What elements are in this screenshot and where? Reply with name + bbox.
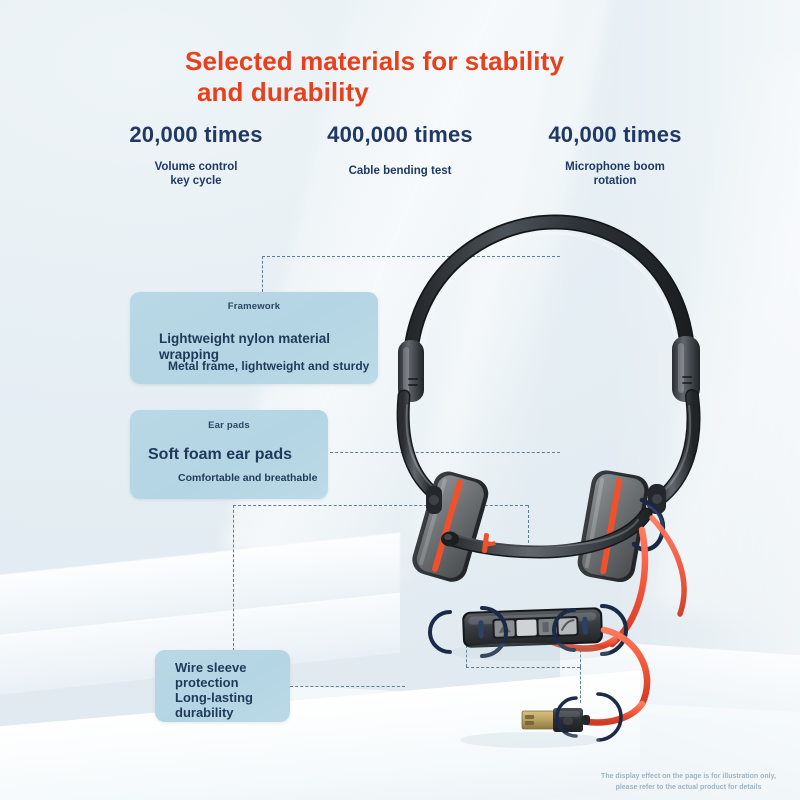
callout-heading: Ear pads — [130, 410, 328, 431]
stat-value: 400,000 times — [295, 122, 505, 148]
disclaimer-line-1: The display effect on the page is for il… — [586, 772, 791, 783]
disclaimer-line-2: please refer to the actual product for d… — [586, 783, 791, 794]
left-slider-arm — [398, 340, 432, 492]
stat-value: 20,000 times — [96, 122, 296, 148]
stat-label: Microphone boom rotation — [510, 161, 720, 188]
leader-line-wire-vertical — [233, 505, 234, 651]
stat-label-line-2: rotation — [510, 175, 720, 189]
page-title: Selected materials for stability and dur… — [185, 46, 655, 109]
leader-line-framework-vertical — [262, 256, 263, 292]
stat-mic-boom-rotation: 40,000 times Microphone boom rotation — [510, 122, 720, 188]
headband-outer — [410, 222, 688, 365]
stat-label: Cable bending test — [295, 165, 505, 179]
stat-cable-bending: 400,000 times Cable bending test — [295, 122, 505, 179]
inline-control-module — [462, 607, 603, 648]
callout-line-2: Comfortable and breathable — [178, 472, 317, 484]
disclaimer-text: The display effect on the page is for il… — [586, 772, 791, 793]
stat-volume-control: 20,000 times Volume control key cycle — [96, 122, 296, 188]
callout-framework[interactable]: Framework Lightweight nylon material wra… — [130, 292, 378, 384]
stat-label: Volume control key cycle — [96, 161, 296, 188]
stat-label-line-2: key cycle — [96, 175, 296, 189]
stat-value: 40,000 times — [510, 122, 720, 148]
callout-line-2: Metal frame, lightweight and sturdy — [168, 360, 369, 374]
cable-to-usb — [588, 704, 642, 722]
usb-strain-relief — [582, 715, 590, 725]
callout-ear-pads[interactable]: Ear pads Soft foam ear pads Comfortable … — [130, 410, 328, 499]
callout-line-2: Long-lasting durability — [175, 690, 290, 720]
callout-wire-sleeve[interactable]: Wire sleeve protection Long-lasting dura… — [155, 650, 290, 722]
title-line-2: and durability — [185, 77, 655, 108]
callout-heading: Framework — [130, 292, 378, 312]
product-photo-headset — [380, 200, 800, 800]
title-line-1: Selected materials for stability — [185, 46, 564, 76]
stat-label-line-1: Microphone boom — [510, 161, 720, 175]
mic-boom-accent-ring — [490, 542, 491, 546]
stat-label-line-1: Cable bending test — [295, 165, 505, 179]
callout-line-1: Lightweight nylon material wrapping — [159, 331, 378, 362]
left-cup-hinge — [426, 486, 442, 514]
pedestal-shape-1 — [0, 533, 400, 658]
stat-label-line-1: Volume control — [96, 161, 296, 175]
headband — [410, 222, 688, 365]
cable-secondary-branch — [652, 518, 684, 614]
callout-line-1: Wire sleeve protection — [175, 660, 290, 690]
volume-up-icon — [516, 619, 537, 636]
callout-line-1: Soft foam ear pads — [148, 446, 292, 465]
usb-metal-shell — [522, 711, 554, 729]
right-slider-arm — [658, 336, 700, 500]
product-infographic-poster: Selected materials for stability and dur… — [0, 0, 800, 800]
